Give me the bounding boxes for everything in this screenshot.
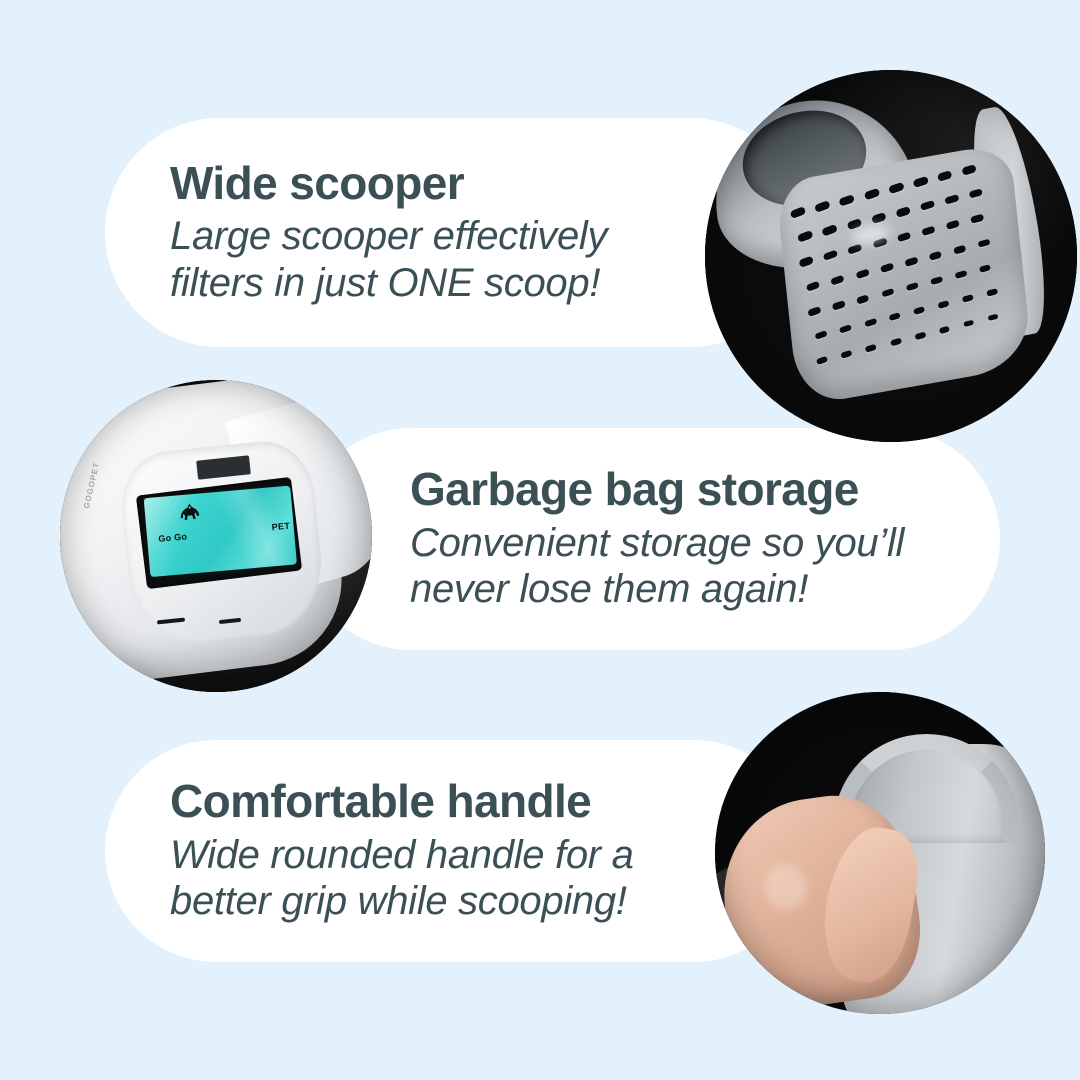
scooper-filter-hole xyxy=(939,326,950,334)
feature-description-comfortable-handle: Wide rounded handle for a better grip wh… xyxy=(170,832,634,925)
comfortable-handle-photo-inner xyxy=(715,692,1045,1014)
wide-scooper-photo xyxy=(705,70,1077,442)
feature-title-wide-scooper: Wide scooper xyxy=(170,159,464,209)
scooper-filter-hole xyxy=(807,280,822,291)
feature-card-wide-scooper: Wide scooper Large scooper effectively f… xyxy=(105,118,805,347)
scooper-filter-hole xyxy=(930,276,943,285)
scooper-filter-hole xyxy=(954,244,967,254)
wide-scooper-photo-inner xyxy=(705,70,1077,442)
garbage-bag-storage-photo: GOGOPET Go Go PET xyxy=(60,380,372,692)
scooper-filter-hole xyxy=(840,324,853,334)
scooper-filter-hole xyxy=(888,182,904,194)
scooper-filter-hole xyxy=(790,206,807,219)
housing-logo: GOGOPET xyxy=(81,462,100,510)
scooper-filter-hole xyxy=(929,250,942,260)
infographic-canvas: Wide scooper Large scooper effectively f… xyxy=(0,0,1080,1080)
scooper-filter-hole xyxy=(817,356,829,365)
scooper-filter-hole xyxy=(864,318,877,327)
knuckle-highlight xyxy=(762,862,810,913)
bag-brand-right: PET xyxy=(272,521,291,533)
scooper-filter-hole xyxy=(962,294,974,302)
feature-description-wide-scooper: Large scooper effectively filters in jus… xyxy=(170,213,607,306)
scooper-filter-hole xyxy=(945,194,960,205)
scooper-filter-hole xyxy=(822,224,838,236)
comfortable-handle-photo xyxy=(715,692,1045,1014)
scooper-filter-hole xyxy=(866,344,878,353)
scooper-filter-hole xyxy=(848,244,863,255)
scooper-filter-hole xyxy=(962,164,977,175)
scooper-filter-hole xyxy=(913,176,929,188)
scooper-filter-hole xyxy=(978,238,991,247)
scooper-filter-hole xyxy=(831,274,845,285)
scooper-filter-hole xyxy=(815,330,828,340)
scooper-filter-hole xyxy=(799,256,814,268)
scooper-filter-hole xyxy=(857,294,870,304)
scooper-filter-hole xyxy=(915,332,926,340)
scooper-filter-hole xyxy=(824,250,839,262)
scooper-filter-hole xyxy=(856,268,870,279)
scooper-filter-hole xyxy=(889,312,901,321)
scooper-filter-hole xyxy=(839,194,856,207)
storage-compartment-window: Go Go PET xyxy=(136,477,302,589)
scooper-filter-hole xyxy=(880,262,894,272)
scooper-filter-hole xyxy=(864,188,880,200)
scooper-filter-hole xyxy=(938,300,950,309)
scooper-filter-hole xyxy=(798,230,814,243)
scooper-filter-hole xyxy=(920,200,935,211)
feature-card-comfortable-handle: Comfortable handle Wide rounded handle f… xyxy=(105,740,805,962)
scooper-filter-hole xyxy=(913,306,925,315)
scooper-filter-hole xyxy=(946,220,960,230)
scooper-filter-hole xyxy=(832,300,846,310)
feature-title-comfortable-handle: Comfortable handle xyxy=(170,777,591,827)
feature-title-garbage-bag-storage: Garbage bag storage xyxy=(410,465,859,515)
scooper-filter-hole xyxy=(906,282,919,292)
feature-card-garbage-bag-storage: Garbage bag storage Convenient storage s… xyxy=(300,428,1000,650)
scooper-filter-hole xyxy=(881,288,894,298)
scooper-filter-hole xyxy=(987,288,998,296)
scooper-filter-hole xyxy=(871,212,887,224)
scooper-filter-hole xyxy=(808,306,822,317)
scooper-filter-hole xyxy=(964,320,975,328)
scooper-filter-hole xyxy=(905,256,919,266)
scooper-filter-hole xyxy=(922,226,936,237)
dog-logo-icon xyxy=(171,495,209,531)
scooper-filter-hole xyxy=(955,270,967,279)
scooper-filter-hole xyxy=(896,206,911,218)
scooper-basket-face xyxy=(775,142,1033,407)
scooper-filter-hole xyxy=(815,200,832,213)
scooper-filter-holes xyxy=(786,157,1023,393)
scooper-filter-hole xyxy=(980,264,992,273)
scooper-filter-hole xyxy=(971,214,985,224)
scooper-filter-hole xyxy=(969,188,984,199)
garbage-bag-storage-photo-inner: GOGOPET Go Go PET xyxy=(60,380,372,692)
scooper-filter-hole xyxy=(841,350,853,359)
scooper-filter-hole xyxy=(897,232,911,243)
scooper-filter-hole xyxy=(988,314,999,322)
scooper-filter-hole xyxy=(890,338,902,347)
feature-description-garbage-bag-storage: Convenient storage so you’ll never lose … xyxy=(410,520,904,613)
scooper-filter-hole xyxy=(937,170,953,182)
